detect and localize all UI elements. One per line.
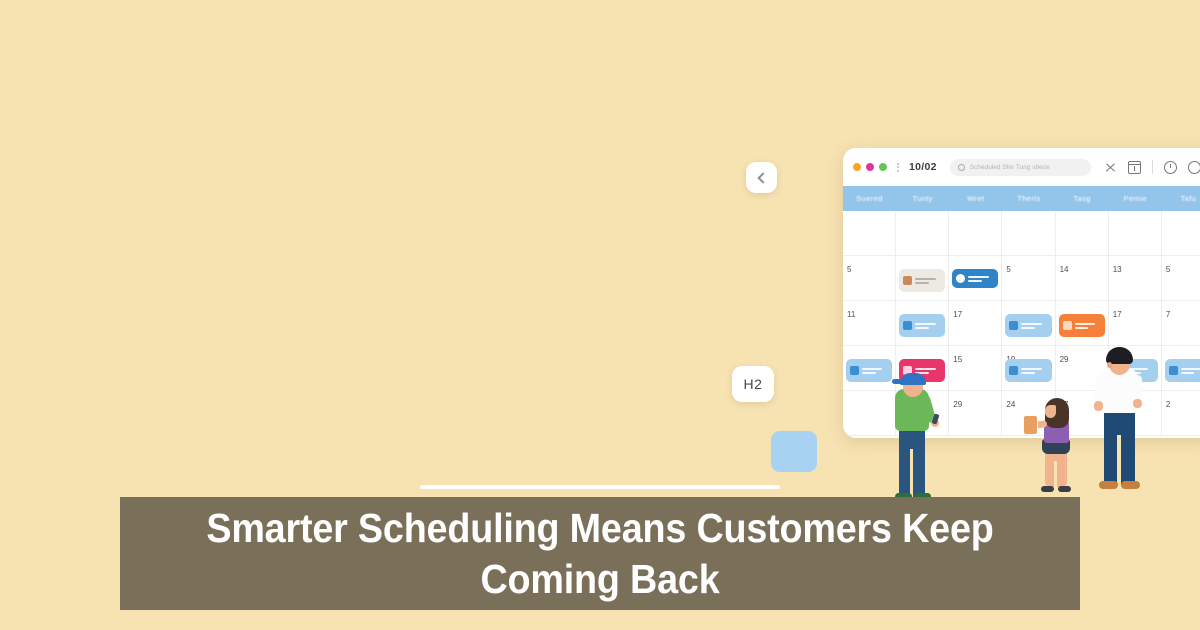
weekday-5: Pemie xyxy=(1109,186,1162,211)
calendar-icon[interactable] xyxy=(1128,161,1141,174)
calendar-day-cell[interactable]: 7 xyxy=(1162,301,1200,346)
toolbar-divider xyxy=(1152,160,1153,174)
calendar-day-cell[interactable] xyxy=(1109,211,1162,256)
day-number: 17 xyxy=(953,310,962,319)
event-icon xyxy=(956,274,965,283)
event-text-lines xyxy=(1181,368,1200,374)
window-minimize-dot[interactable] xyxy=(866,163,874,171)
blue-color-swatch[interactable] xyxy=(771,431,817,472)
event-icon xyxy=(903,321,912,330)
day-number: 2 xyxy=(1166,400,1170,409)
calendar-day-cell[interactable]: 14 xyxy=(1056,256,1109,301)
calendar-day-cell[interactable]: 13 xyxy=(1109,256,1162,301)
shoe-left xyxy=(1041,486,1054,492)
search-placeholder: Scheduled Sfer Tung sbece xyxy=(970,164,1050,171)
calendar-day-cell[interactable] xyxy=(1002,211,1055,256)
calendar-day-cell[interactable] xyxy=(949,256,1002,301)
calendar-day-cell[interactable]: 5 xyxy=(843,256,896,301)
day-number: 11 xyxy=(847,310,855,319)
window-maximize-dot[interactable] xyxy=(879,163,887,171)
event-icon xyxy=(903,276,912,285)
calendar-day-cell[interactable]: 2 xyxy=(1162,391,1200,436)
weekday-3: Therls xyxy=(1002,186,1055,211)
calendar-event-chip[interactable] xyxy=(1005,359,1051,382)
day-number: 24 xyxy=(1006,400,1015,409)
calendar-day-cell[interactable] xyxy=(949,211,1002,256)
calendar-event-chip[interactable] xyxy=(1165,359,1200,382)
day-number: 5 xyxy=(1006,265,1010,274)
weekday-6: Tafu xyxy=(1162,186,1200,211)
close-icon[interactable] xyxy=(1104,161,1117,174)
calendar-day-cell[interactable] xyxy=(1162,346,1200,391)
chevron-left-icon xyxy=(757,172,768,183)
calendar-day-cell[interactable] xyxy=(1162,211,1200,256)
calendar-event-chip[interactable] xyxy=(1005,314,1051,337)
calendar-day-cell[interactable]: 17 xyxy=(949,301,1002,346)
back-button[interactable] xyxy=(746,162,777,193)
calendar-day-cell[interactable]: 29 xyxy=(949,391,1002,436)
calendar-day-cell[interactable]: 17 xyxy=(1109,301,1162,346)
day-number: 14 xyxy=(1060,265,1069,274)
calendar-day-cell[interactable] xyxy=(1056,211,1109,256)
day-number: 17 xyxy=(1113,310,1122,319)
calendar-day-cell[interactable]: 15 xyxy=(949,346,1002,391)
event-text-lines xyxy=(1075,323,1101,329)
clock-icon[interactable] xyxy=(1164,161,1177,174)
legs xyxy=(1104,407,1135,485)
calendar-day-cell[interactable]: 5 xyxy=(1002,256,1055,301)
calendar-date-label: 10/02 xyxy=(909,161,937,173)
person-standing xyxy=(1090,345,1152,495)
event-icon xyxy=(1009,321,1018,330)
event-text-lines xyxy=(1021,323,1047,329)
calendar-event-chip[interactable] xyxy=(899,269,945,292)
calendar-day-cell[interactable] xyxy=(896,211,949,256)
cap xyxy=(900,373,926,385)
title-band: Smarter Scheduling Means Customers Keep … xyxy=(120,497,1080,610)
shoe-right xyxy=(1121,481,1140,489)
circle-icon[interactable] xyxy=(1188,161,1200,174)
shoe-left xyxy=(1099,481,1118,489)
kebab-menu-icon[interactable] xyxy=(897,163,899,172)
calendar-event-chip[interactable] xyxy=(1059,314,1105,337)
calendar-day-cell[interactable]: 5 xyxy=(1162,256,1200,301)
calendar-day-cell[interactable] xyxy=(843,211,896,256)
calendar-day-cell[interactable]: 19 xyxy=(1002,346,1055,391)
face xyxy=(1045,405,1056,418)
calendar-day-cell[interactable] xyxy=(1056,301,1109,346)
person-with-phone xyxy=(884,369,942,500)
calendar-day-cell[interactable] xyxy=(896,256,949,301)
calendar-toolbar: 10/02 Scheduled Sfer Tung sbece xyxy=(843,148,1200,186)
calendar-day-cell[interactable]: 11 xyxy=(843,301,896,346)
weekday-header-row: Suered Tunty Wret Therls Tasg Pemie Tafu xyxy=(843,186,1200,211)
weekday-0: Suered xyxy=(843,186,896,211)
tablet xyxy=(1023,415,1038,435)
shoe-right xyxy=(1058,486,1071,492)
hand-right xyxy=(1133,399,1142,408)
weekday-2: Wret xyxy=(949,186,1002,211)
page-title: Smarter Scheduling Means Customers Keep … xyxy=(171,503,1028,603)
event-icon xyxy=(1169,366,1178,375)
toolbar-icon-group xyxy=(1104,160,1200,174)
day-number: 15 xyxy=(953,355,962,364)
day-number: 5 xyxy=(847,265,851,274)
day-number: 29 xyxy=(1060,355,1069,364)
title-divider-rule xyxy=(420,485,780,489)
calendar-event-chip[interactable] xyxy=(952,269,998,288)
legs xyxy=(899,425,925,497)
event-text-lines xyxy=(915,323,941,329)
calendar-event-chip[interactable] xyxy=(899,314,945,337)
heading-level-badge[interactable]: H2 xyxy=(732,366,774,402)
heading-level-label: H2 xyxy=(744,376,763,392)
weekday-1: Tunty xyxy=(896,186,949,211)
hand-left xyxy=(1094,401,1103,411)
calendar-day-cell[interactable] xyxy=(896,301,949,346)
window-controls[interactable] xyxy=(853,163,887,171)
search-input[interactable]: Scheduled Sfer Tung sbece xyxy=(950,159,1091,176)
event-text-lines xyxy=(915,278,941,284)
calendar-day-cell[interactable] xyxy=(1002,301,1055,346)
search-icon xyxy=(958,164,965,171)
day-number: 13 xyxy=(1113,265,1122,274)
day-number: 5 xyxy=(1166,265,1170,274)
person-with-tablet xyxy=(1033,397,1085,496)
window-close-dot[interactable] xyxy=(853,163,861,171)
event-icon xyxy=(850,366,859,375)
event-text-lines xyxy=(1021,368,1047,374)
ear xyxy=(1107,362,1112,368)
event-text-lines xyxy=(968,276,994,282)
event-icon xyxy=(1063,321,1072,330)
event-icon xyxy=(1009,366,1018,375)
day-number: 29 xyxy=(953,400,962,409)
weekday-4: Tasg xyxy=(1056,186,1109,211)
day-number: 7 xyxy=(1166,310,1170,319)
